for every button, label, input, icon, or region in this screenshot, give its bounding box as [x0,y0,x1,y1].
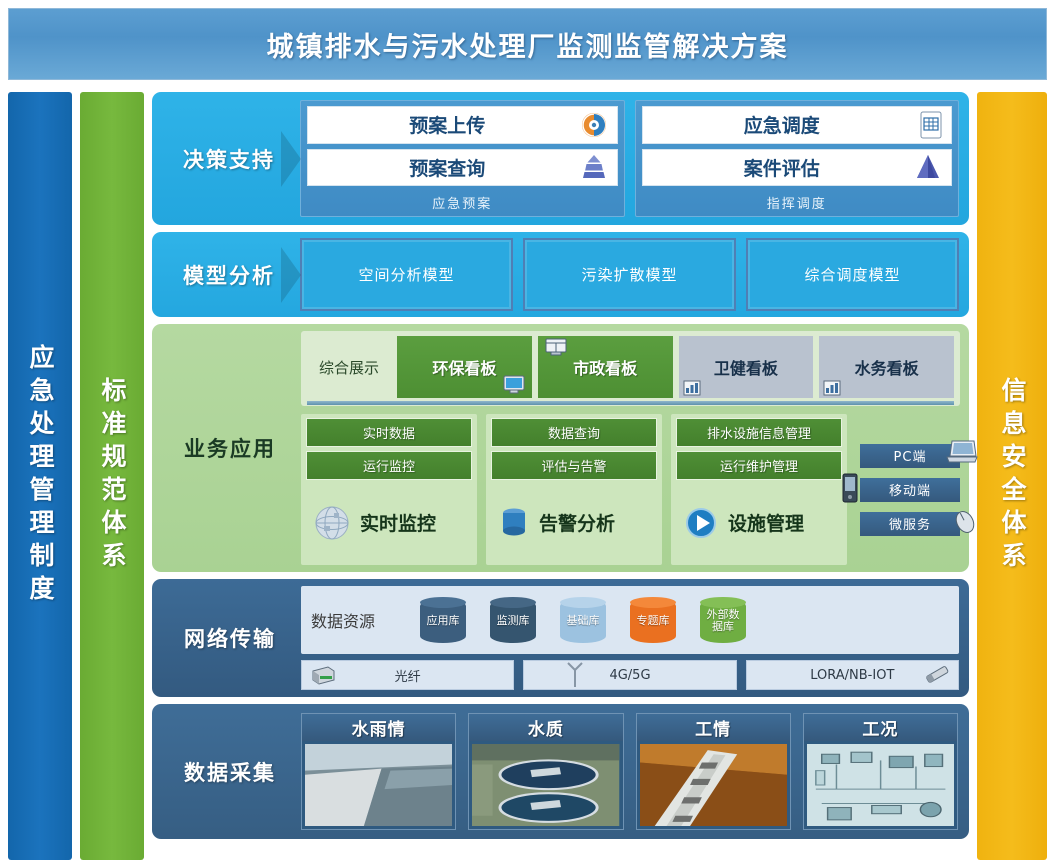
data-acquisition-title: 数据采集 [184,757,276,787]
acquisition-card-operating-condition-label: 工况 [804,714,957,741]
kanban-strip: 综合展示 环保看板 [301,331,960,406]
decision-group-emergency-plan: 预案上传 [300,100,625,217]
treatment-pools-photo [472,744,619,826]
business-body: 综合展示 环保看板 [301,331,962,565]
acquisition-card-operating-condition[interactable]: 工况 [803,713,958,830]
device-chip-mobile[interactable]: 移动端 [860,478,960,502]
sidebar-emergency-management-label: 应急处理管理制度 [22,344,58,608]
model-card-spatial[interactable]: 空间分析模型 [300,238,513,311]
acquisition-cards: 水雨情 水质 [301,711,962,832]
business-pill-assessment-alarm[interactable]: 评估与告警 [491,451,657,480]
decision-item-plan-upload[interactable]: 预案上传 [307,106,618,144]
database-monitoring-label: 监测库 [497,615,530,627]
business-feature-alarm-analysis[interactable]: 告警分析 [491,484,657,561]
kanban-card-environment[interactable]: 环保看板 [397,336,532,398]
database-foundation[interactable]: 基础库 [553,595,613,645]
monitor-icon [502,374,526,396]
business-feature-realtime-monitor-label: 实时监控 [360,509,436,536]
diagram-body: 应急处理管理制度 标准规范体系 决策支持 预案上传 [8,92,1047,860]
database-thematic[interactable]: 专题库 [623,595,683,645]
decision-item-plan-upload-label: 预案上传 [308,111,617,138]
arrow-icon [281,247,301,303]
business-pill-operation-maintenance[interactable]: 运行维护管理 [676,451,842,480]
business-columns: 实时数据 运行监控 [301,411,960,565]
section-model-analysis-label: 模型分析 [158,238,300,311]
data-resource-strip: 数据资源 应用库 监测库 基础库 [301,586,959,654]
section-data-acquisition-label: 数据采集 [159,711,301,832]
business-pill-drainage-facility-info[interactable]: 排水设施信息管理 [676,418,842,447]
model-card-pollution-diffusion[interactable]: 污染扩散模型 [523,238,736,311]
decision-group-command-dispatch-footer: 指挥调度 [642,191,953,216]
chart-icon [683,380,701,396]
section-business-application-label: 业务应用 [159,331,301,565]
decision-groups: 预案上传 [300,98,963,219]
database-icon [497,503,531,543]
sidebar-information-security: 信息安全体系 [977,92,1047,860]
section-decision-support-label: 决策支持 [158,98,300,219]
decision-item-case-assessment-label: 案件评估 [643,154,952,181]
database-thematic-label: 专题库 [637,615,670,627]
database-external-label: 外部数据库 [702,609,744,632]
business-column-query: 数据查询 评估与告警 告警分析 [486,414,662,565]
decision-item-case-assessment[interactable]: 案件评估 [642,149,953,187]
antenna-icon [564,661,586,689]
section-business-application: 业务应用 综合展示 环保看板 [152,324,969,572]
play-icon [682,504,720,542]
data-resource-label: 数据资源 [311,608,403,632]
window-icon [544,337,568,357]
device-chip-mobile-label: 移动端 [889,480,931,499]
laptop-icon [944,438,978,466]
business-feature-realtime-monitor[interactable]: 实时监控 [306,484,472,561]
network-body: 数据资源 应用库 监测库 基础库 [301,586,962,690]
section-network-transmission: 网络传输 数据资源 应用库 监测库 基础库 [152,579,969,697]
acquisition-card-rainfall-label: 水雨情 [302,714,455,741]
device-chip-microservice-label: 微服务 [889,514,931,533]
section-decision-support: 决策支持 预案上传 [152,92,969,225]
calendar-icon [919,110,943,140]
business-pill-data-query[interactable]: 数据查询 [491,418,657,447]
device-chip-pc[interactable]: PC端 [860,444,960,468]
business-feature-facility-management-label: 设施管理 [728,509,804,536]
device-chip-pc-label: PC端 [894,446,927,465]
kanban-card-environment-label: 环保看板 [432,355,496,379]
sidebar-information-security-label: 信息安全体系 [994,377,1030,575]
model-card-integrated-dispatch[interactable]: 综合调度模型 [746,238,959,311]
business-pill-realtime-data[interactable]: 实时数据 [306,418,472,447]
page-title: 城镇排水与污水处理厂监测监管解决方案 [267,25,789,64]
network-link-fiber[interactable]: 光纤 [301,660,514,690]
business-device-list: PC端 移动端 [856,414,960,565]
database-application-label: 应用库 [427,615,460,627]
kanban-card-health-label: 卫健看板 [714,355,778,379]
database-application[interactable]: 应用库 [413,595,473,645]
business-feature-facility-management[interactable]: 设施管理 [676,484,842,561]
solution-architecture-diagram: 城镇排水与污水处理厂监测监管解决方案 应急处理管理制度 标准规范体系 决策支持 [0,0,1055,868]
database-monitoring[interactable]: 监测库 [483,595,543,645]
server-icon [310,663,336,687]
model-cards: 空间分析模型 污染扩散模型 综合调度模型 [300,238,963,311]
network-link-fiber-label: 光纤 [395,666,421,685]
kanban-card-water-affairs[interactable]: 水务看板 [819,336,954,398]
acquisition-card-water-quality[interactable]: 水质 [468,713,623,830]
database-external[interactable]: 外部数据库 [693,595,753,645]
sidebar-standards-system: 标准规范体系 [80,92,144,860]
canal-photo [305,744,452,826]
network-link-lora-label: LORA/NB-IOT [810,668,894,683]
cone-icon [913,153,943,181]
section-data-acquisition: 数据采集 水雨情 [152,704,969,839]
pipeline-trench-photo [640,744,787,826]
acquisition-card-project-status[interactable]: 工情 [636,713,791,830]
decision-item-emergency-dispatch-label: 应急调度 [643,111,952,138]
kanban-card-health[interactable]: 卫健看板 [679,336,814,398]
kanban-card-municipal-label: 市政看板 [573,355,637,379]
network-link-4g5g-label: 4G/5G [609,668,650,683]
kanban-strip-label: 综合展示 [307,336,391,398]
kanban-card-municipal[interactable]: 市政看板 [538,336,673,398]
business-column-realtime: 实时数据 运行监控 [301,414,477,565]
model-card-pollution-diffusion-label: 污染扩散模型 [581,264,677,285]
decision-item-plan-query[interactable]: 预案查询 [307,149,618,187]
center-stack: 决策支持 预案上传 [152,92,969,860]
page-title-banner: 城镇排水与污水处理厂监测监管解决方案 [8,8,1047,80]
kanban-card-water-affairs-label: 水务看板 [855,355,919,379]
globe-icon [312,503,352,543]
acquisition-card-project-status-label: 工情 [637,714,790,741]
kanban-underline [307,401,954,405]
network-link-lora[interactable]: LORA/NB-IOT [746,660,959,690]
business-feature-alarm-analysis-label: 告警分析 [539,509,615,536]
business-column-facility: 排水设施信息管理 运行维护管理 设施管理 [671,414,847,565]
compass-icon [579,110,609,140]
network-link-list: 光纤 4G/5G [301,660,959,690]
mouse-icon [950,506,980,536]
section-model-analysis: 模型分析 空间分析模型 污染扩散模型 综合调度模型 [152,232,969,317]
business-pill-operation-monitor[interactable]: 运行监控 [306,451,472,480]
decision-item-plan-query-label: 预案查询 [308,154,617,181]
device-chip-microservice[interactable]: 微服务 [860,512,960,536]
scada-diagram-photo [807,744,954,826]
acquisition-card-water-quality-label: 水质 [469,714,622,741]
sensor-icon [922,662,952,688]
business-application-title: 业务应用 [184,433,276,463]
sidebar-standards-system-label: 标准规范体系 [94,377,130,575]
decision-item-emergency-dispatch[interactable]: 应急调度 [642,106,953,144]
decision-group-command-dispatch: 应急调度 [635,100,960,217]
arrow-icon [281,131,301,187]
network-link-4g5g[interactable]: 4G/5G [523,660,736,690]
model-analysis-title: 模型分析 [183,260,275,290]
model-card-integrated-dispatch-label: 综合调度模型 [804,264,900,285]
section-network-transmission-label: 网络传输 [159,586,301,690]
decision-group-emergency-plan-footer: 应急预案 [307,191,618,216]
acquisition-card-rainfall[interactable]: 水雨情 [301,713,456,830]
database-foundation-label: 基础库 [567,615,600,627]
network-transmission-title: 网络传输 [184,623,276,653]
decision-support-title: 决策支持 [183,144,275,174]
model-card-spatial-label: 空间分析模型 [358,264,454,285]
phone-icon [840,472,860,504]
sidebar-emergency-management: 应急处理管理制度 [8,92,72,860]
pyramid-icon [579,153,609,181]
chart-icon [823,380,841,396]
